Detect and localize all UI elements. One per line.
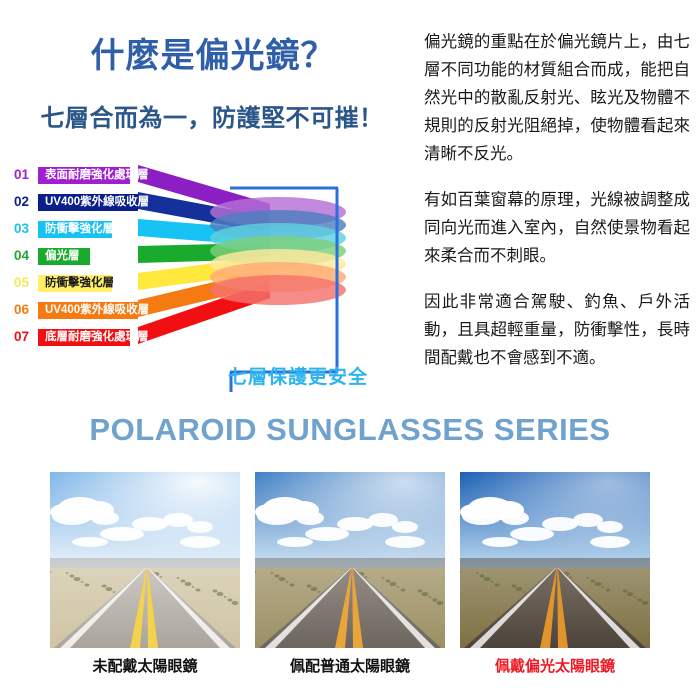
layer-number-3: 03 bbox=[14, 219, 38, 239]
scrub bbox=[642, 601, 649, 605]
layer-number-1: 01 bbox=[14, 165, 38, 185]
scrub bbox=[196, 589, 201, 592]
scrub bbox=[495, 584, 500, 587]
scrub bbox=[113, 591, 116, 593]
layer-row-5: 05 防衝擊強化層 bbox=[14, 273, 112, 293]
comparison-caption-1: 未配戴太陽眼鏡 bbox=[50, 655, 240, 676]
scrub bbox=[106, 587, 113, 591]
scrub bbox=[512, 585, 517, 588]
scrub bbox=[382, 577, 385, 579]
scrub bbox=[228, 599, 233, 602]
scrub bbox=[185, 582, 192, 586]
comparison-caption-row: 未配戴太陽眼鏡 佩配普通太陽眼鏡 佩戴偏光太陽眼鏡 bbox=[50, 655, 650, 676]
scrub bbox=[606, 589, 611, 592]
layer-label-6: UV400紫外線吸收層 bbox=[38, 302, 138, 319]
sun-glare bbox=[460, 472, 650, 572]
scrub bbox=[224, 596, 227, 598]
scrub bbox=[627, 592, 634, 596]
scrub bbox=[160, 576, 163, 578]
scrub bbox=[290, 584, 295, 587]
scrub bbox=[279, 577, 286, 581]
comparison-caption-3: 佩戴偏光太陽眼鏡 bbox=[460, 655, 650, 676]
page-subtitle: 七層合而為一，防護堅不可摧！ bbox=[12, 98, 412, 133]
scrub bbox=[213, 590, 218, 593]
scrub bbox=[401, 589, 406, 592]
scrub bbox=[102, 585, 107, 588]
scrub bbox=[74, 577, 81, 581]
scrub bbox=[365, 576, 368, 578]
page-title: 什麼是偏光鏡？ bbox=[18, 28, 408, 77]
scrub bbox=[311, 587, 318, 591]
comparison-photo-row bbox=[50, 472, 650, 648]
scrub bbox=[484, 577, 491, 581]
layer-number-7: 07 bbox=[14, 327, 38, 347]
scrub bbox=[587, 577, 590, 579]
scrub bbox=[595, 582, 602, 586]
sun-glare bbox=[255, 472, 445, 572]
layer-number-6: 06 bbox=[14, 300, 38, 320]
description-paragraph-2: 有如百葉窗幕的原理，光線被調整成同向光而進入室內，自然使景物看起來柔合而不刺眼。 bbox=[424, 186, 690, 270]
layer-row-7: 07 底層耐磨強化處理層 bbox=[14, 327, 130, 347]
layer-label-4: 偏光層 bbox=[38, 248, 90, 265]
scrub bbox=[271, 572, 274, 574]
comparison-photo-1 bbox=[50, 472, 240, 648]
scrub bbox=[491, 581, 494, 583]
series-title: POLAROID SUNGLASSES SERIES bbox=[0, 412, 700, 448]
description-paragraph-1: 偏光鏡的重點在於偏光鏡片上，由七層不同功能的材質組合而成，能把自然光中的散亂反射… bbox=[424, 28, 690, 168]
scrub bbox=[422, 592, 429, 596]
layer-row-3: 03 防衝擊強化層 bbox=[14, 219, 112, 239]
scrub bbox=[397, 586, 400, 588]
comparison-photo-2 bbox=[255, 472, 445, 648]
scrub bbox=[476, 572, 479, 574]
scrub bbox=[217, 592, 224, 596]
layer-label-3: 防衝擊強化層 bbox=[38, 221, 112, 238]
scrub bbox=[181, 580, 186, 583]
layer-number-2: 02 bbox=[14, 192, 38, 212]
scrub bbox=[307, 585, 312, 588]
scrub bbox=[570, 576, 573, 578]
layer-number-5: 05 bbox=[14, 273, 38, 293]
scrub bbox=[386, 580, 391, 583]
scrub bbox=[591, 580, 596, 583]
scrub bbox=[70, 575, 75, 578]
comparison-photo-3 bbox=[460, 472, 650, 648]
scrub bbox=[437, 601, 444, 605]
polarized-lens-infographic: 什麼是偏光鏡？ 七層合而為一，防護堅不可摧！ 偏光鏡的重點在於偏光鏡片上，由七層… bbox=[0, 0, 700, 700]
layer-row-2: 02 UV400紫外線吸收層 bbox=[14, 192, 138, 212]
lens-stack bbox=[210, 197, 346, 305]
scrub bbox=[634, 596, 637, 598]
sun-glare bbox=[50, 472, 240, 572]
scrub bbox=[523, 591, 526, 593]
seven-layer-diagram: 01 表面耐磨強化處理層 02 UV400紫外線吸收層 03 防衝擊強化層 04… bbox=[8, 160, 418, 392]
scrub bbox=[318, 591, 321, 593]
layer-row-6: 06 UV400紫外線吸收層 bbox=[14, 300, 138, 320]
scrub bbox=[480, 575, 485, 578]
layer-label-2: UV400紫外線吸收層 bbox=[38, 194, 138, 211]
scrub bbox=[81, 581, 84, 583]
scrub bbox=[192, 586, 195, 588]
scrub bbox=[516, 587, 523, 591]
layer-row-4: 04 偏光層 bbox=[14, 246, 90, 266]
description-paragraph-3: 因此非常適合駕駛、釣魚、戶外活動，且具超輕重量，防衝擊性，長時間配戴也不會感到不… bbox=[424, 288, 690, 372]
description-column: 偏光鏡的重點在於偏光鏡片上，由七層不同功能的材質組合而成，能把自然光中的散亂反射… bbox=[424, 28, 690, 372]
scrub bbox=[390, 582, 397, 586]
layer-label-1: 表面耐磨強化處理層 bbox=[38, 167, 130, 184]
scrub bbox=[429, 596, 432, 598]
lens-stack-caption: 七層保護更安全 bbox=[228, 362, 368, 389]
scrub bbox=[85, 584, 90, 587]
scrub bbox=[433, 599, 438, 602]
layer-number-4: 04 bbox=[14, 246, 38, 266]
scrub bbox=[66, 572, 69, 574]
scrub bbox=[602, 586, 605, 588]
scrub bbox=[232, 601, 239, 605]
layer-label-7: 底層耐磨強化處理層 bbox=[38, 329, 130, 346]
lens-layer-7 bbox=[210, 275, 346, 305]
scrub bbox=[177, 577, 180, 579]
scrub bbox=[286, 581, 289, 583]
scrub bbox=[418, 590, 423, 593]
scrub bbox=[275, 575, 280, 578]
scrub bbox=[638, 599, 643, 602]
layer-row-1: 01 表面耐磨強化處理層 bbox=[14, 165, 130, 185]
scrub bbox=[623, 590, 628, 593]
layer-label-5: 防衝擊強化層 bbox=[38, 275, 112, 292]
comparison-caption-2: 佩配普通太陽眼鏡 bbox=[255, 655, 445, 676]
